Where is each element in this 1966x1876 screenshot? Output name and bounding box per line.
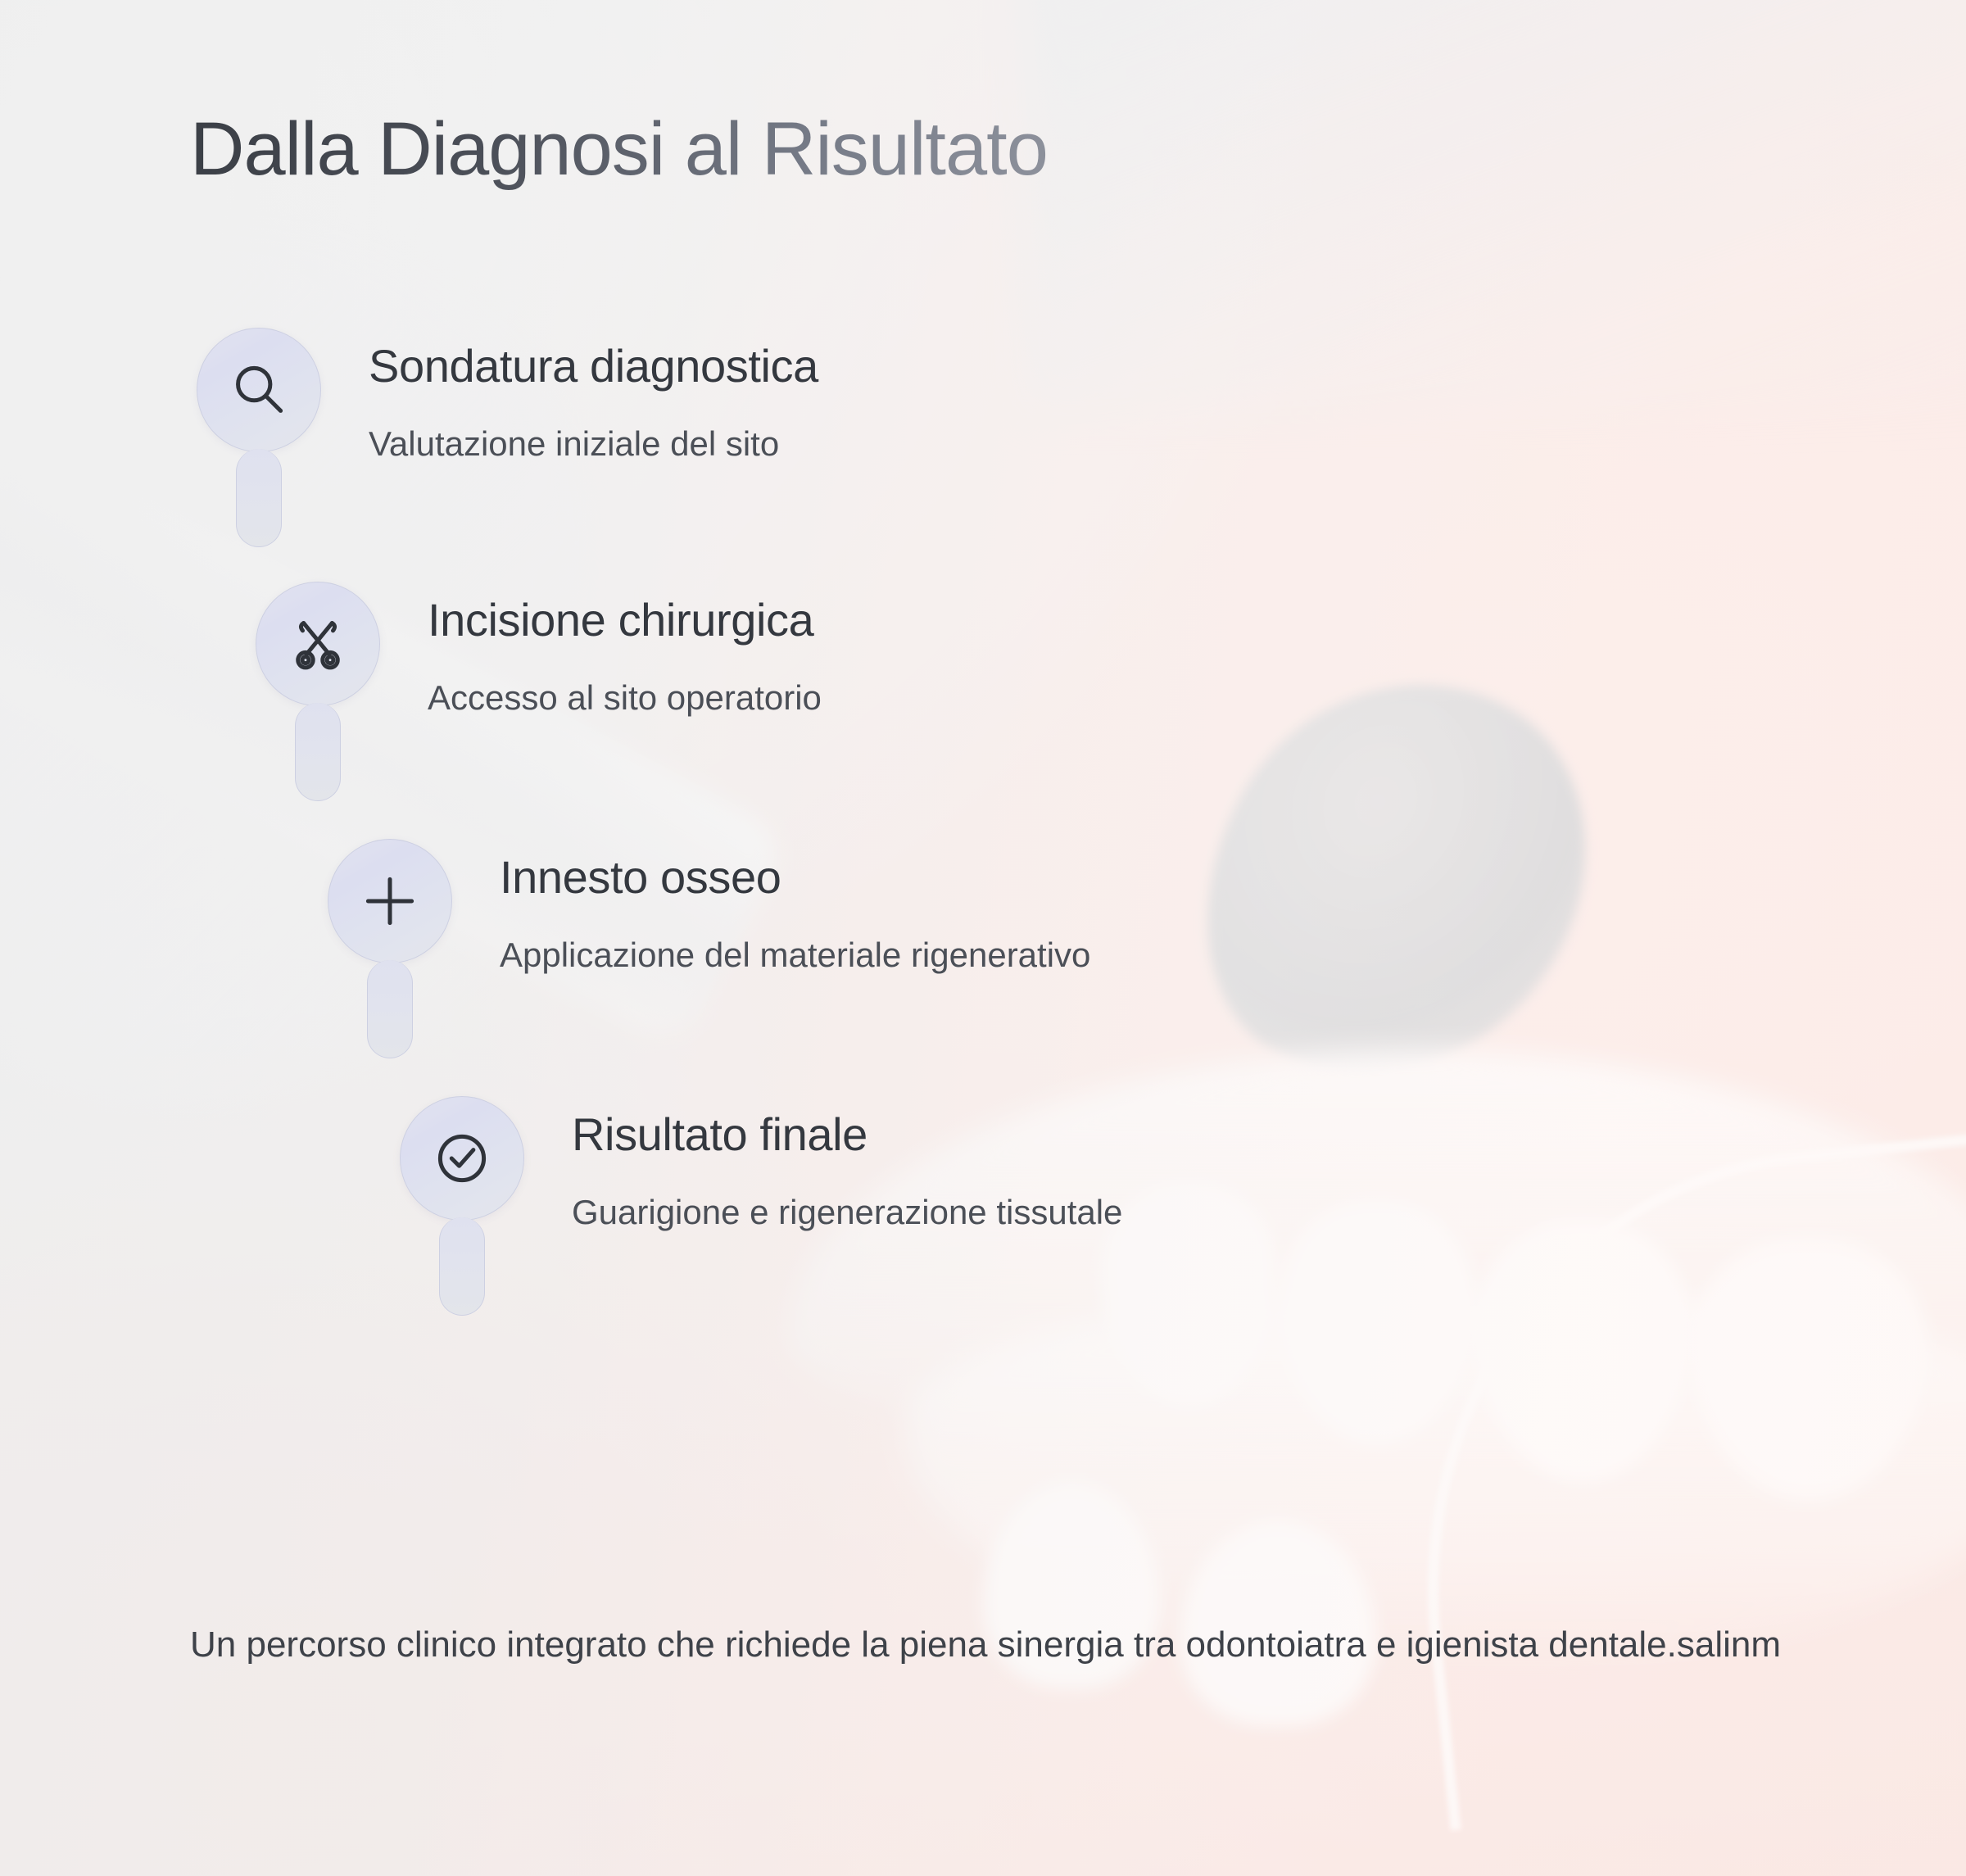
step-description: Guarigione e rigenerazione tissutale [572,1191,1122,1235]
scissors-icon-badge[interactable] [256,582,380,706]
step-description: Valutazione iniziale del sito [369,423,818,466]
timeline-step-sondatura-diagnostica[interactable]: Sondatura diagnostica Valutazione inizia… [0,328,1966,547]
magnifier-icon [229,360,289,420]
magnifier-icon-badge[interactable] [197,328,321,452]
check-circle-icon [432,1128,492,1189]
step-description: Applicazione del materiale rigenerativo [500,934,1090,977]
scissors-icon [288,614,348,674]
plus-icon-badge[interactable] [328,839,452,963]
timeline-step-innesto-osseo[interactable]: Innesto osseo Applicazione del materiale… [0,839,1966,1058]
timeline-step-incisione-chirurgica[interactable]: Incisione chirurgica Accesso al sito ope… [0,582,1966,801]
timeline-marker [400,1096,524,1316]
timeline-step-text: Incisione chirurgica Accesso al sito ope… [380,582,822,720]
step-description: Accesso al sito operatorio [428,677,822,720]
step-title: Innesto osseo [500,850,1090,904]
footnote-text: Un percorso clinico integrato che richie… [190,1615,1878,1674]
step-title: Sondatura diagnostica [369,339,818,393]
timeline-step-text: Risultato finale Guarigione e rigenerazi… [524,1096,1122,1235]
step-title: Incisione chirurgica [428,593,822,647]
timeline-step-risultato-finale[interactable]: Risultato finale Guarigione e rigenerazi… [0,1096,1966,1316]
treatment-timeline: Sondatura diagnostica Valutazione inizia… [0,328,1966,1316]
timeline-connector [236,449,282,547]
timeline-connector [367,960,413,1058]
plus-icon [360,871,420,931]
timeline-marker [197,328,321,547]
page-title: Dalla Diagnosi al Risultato [190,108,1048,191]
step-title: Risultato finale [572,1108,1122,1162]
timeline-connector [295,703,341,801]
check-circle-icon-badge[interactable] [400,1096,524,1221]
timeline-step-text: Sondatura diagnostica Valutazione inizia… [321,328,818,466]
timeline-marker [256,582,380,801]
timeline-marker [328,839,452,1058]
timeline-connector [439,1217,485,1316]
timeline-step-text: Innesto osseo Applicazione del materiale… [452,839,1090,977]
page-content: Dalla Diagnosi al Risultato Sondatura di… [0,0,1966,1876]
